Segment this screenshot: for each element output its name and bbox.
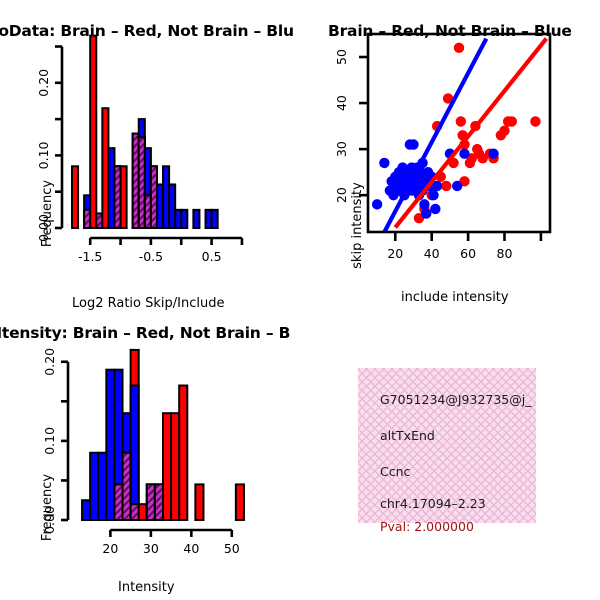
x-tick-label: 0.5 <box>202 249 222 264</box>
histogram-bars <box>82 350 244 520</box>
histogram-bar <box>106 370 114 520</box>
histogram-bar <box>193 210 199 228</box>
scatter-point <box>441 181 451 191</box>
scatter-point <box>430 204 440 214</box>
scatter-title: Brain – Red, Not Brain – Blue <box>328 22 572 40</box>
x-tick-label: 50 <box>224 541 240 556</box>
histogram-bar <box>171 413 179 520</box>
ratio-histogram-title: RatioData: Brain – Red, Not Brain – Blu <box>0 22 294 40</box>
histogram-bar-overlap <box>155 484 163 520</box>
intensity-histogram-xlabel: Intensity <box>118 580 175 595</box>
y-tick-label: 50 <box>334 49 349 65</box>
histogram-bar <box>82 500 90 520</box>
histogram-bar <box>72 166 78 228</box>
info-line-locus: chr4.17094–2.23 <box>380 496 486 511</box>
y-tick-label: 0.20 <box>42 348 57 376</box>
scatter-point <box>488 149 498 159</box>
scatter-point <box>507 116 517 126</box>
y-tick-label: 0.10 <box>42 427 57 455</box>
x-tick-label: 80 <box>497 246 513 261</box>
scatter-point <box>499 125 509 135</box>
scatter-point <box>379 158 389 168</box>
info-line-pval: Pval: 2.000000 <box>380 519 474 534</box>
ratio-histogram-plot: 0.000.100.20-1.5-0.50.5 <box>0 18 300 288</box>
histogram-bar <box>90 36 96 228</box>
y-tick-label: 40 <box>334 95 349 111</box>
ratio-histogram-panel: RatioData: Brain – Red, Not Brain – Blu … <box>0 18 300 308</box>
scatter-plot: 2030405020406080 <box>300 18 600 288</box>
histogram-bars <box>72 36 218 228</box>
scatter-content <box>372 39 546 232</box>
scatter-point <box>372 199 382 209</box>
x-tick-label: 40 <box>183 541 199 556</box>
x-tick-label: 20 <box>387 246 403 261</box>
intensity-histogram-panel: ne Itensity: Brain – Red, Not Brain – B … <box>0 310 300 600</box>
histogram-bar <box>139 504 147 520</box>
histogram-bar <box>98 453 106 520</box>
histogram-bar <box>236 484 244 520</box>
histogram-bar <box>181 210 187 228</box>
x-tick-label: -1.5 <box>78 249 102 264</box>
scatter-point <box>465 158 475 168</box>
scatter-point <box>456 116 466 126</box>
y-tick-label: 30 <box>334 141 349 157</box>
scatter-point <box>421 208 431 218</box>
histogram-bar <box>163 413 171 520</box>
scatter-xlabel: include intensity <box>401 290 509 305</box>
histogram-bar-overlap <box>131 504 139 520</box>
scatter-point <box>428 190 438 200</box>
scatter-point <box>419 199 429 209</box>
x-tick-label: -0.5 <box>139 249 163 264</box>
histogram-bar <box>90 453 98 520</box>
info-line-gene: Ccnc <box>380 464 410 479</box>
histogram-bar <box>195 484 203 520</box>
scatter-point <box>459 149 469 159</box>
info-box: G7051234@J932735@j_ altTxEnd Ccnc chr4.1… <box>358 368 536 523</box>
intensity-histogram-ylabel: Frequency <box>40 474 55 541</box>
scatter-ylabel: skip intensity <box>350 182 365 269</box>
scatter-point <box>408 139 418 149</box>
x-tick-label: 20 <box>102 541 118 556</box>
info-line-id: G7051234@J932735@j_ <box>380 392 531 407</box>
histogram-bar-overlap <box>123 453 131 520</box>
scatter-panel: Brain – Red, Not Brain – Blue skip inten… <box>300 18 600 308</box>
y-tick-label: 0.10 <box>36 141 51 169</box>
scatter-point <box>530 116 540 126</box>
histogram-bar <box>179 386 187 520</box>
intensity-histogram-title: ne Itensity: Brain – Red, Not Brain – B <box>0 324 290 342</box>
y-tick-label: 20 <box>334 187 349 203</box>
y-tick-label: 0.20 <box>36 69 51 97</box>
scatter-point <box>452 181 462 191</box>
ratio-histogram-xlabel: Log2 Ratio Skip/Include <box>72 296 224 311</box>
histogram-bar <box>212 210 218 228</box>
x-tick-label: 40 <box>424 246 440 261</box>
histogram-bar <box>121 166 127 228</box>
x-tick-label: 60 <box>460 246 476 261</box>
scatter-point <box>454 43 464 53</box>
ratio-histogram-ylabel: Frequency <box>40 180 55 247</box>
histogram-bar-overlap <box>147 484 155 520</box>
histogram-bar-overlap <box>114 484 122 520</box>
x-tick-label: 30 <box>143 541 159 556</box>
histogram-bar <box>131 386 139 520</box>
info-line-event: altTxEnd <box>380 428 435 443</box>
